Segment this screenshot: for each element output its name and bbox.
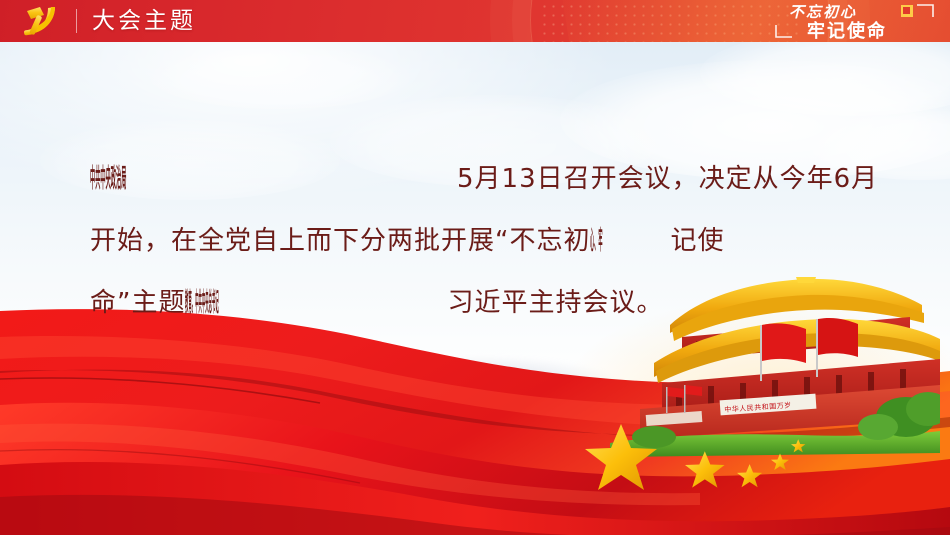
body-line-2-post: 记使	[671, 226, 725, 256]
body-line-2: 开始，在全党自上而下分两批开展“不忘初心、牢记使	[90, 210, 880, 272]
slide-body-text: 中共中央政治局5月13日召开会议，决定从今年6月 开始，在全党自上而下分两批开展…	[90, 148, 880, 334]
header-divider	[76, 9, 77, 33]
logo-line-1: 不忘初心	[789, 3, 857, 21]
body-line-2-pre: 开始，在全党自上而下分两批开展“不忘初	[90, 226, 590, 256]
body-line-3-pre: 命”主题	[90, 288, 185, 318]
star-2	[685, 451, 725, 487]
five-gold-stars	[585, 418, 905, 513]
logo-line-2: 牢记使命	[807, 20, 887, 42]
star-5	[791, 439, 805, 452]
page-title: 大会主题	[92, 5, 196, 37]
star-1	[585, 424, 657, 490]
presentation-slide: 大会主题 不忘初心 牢记使命	[0, 0, 950, 535]
cpc-hammer-sickle-icon	[14, 3, 76, 39]
body-line-2-overlap: 心、牢	[590, 210, 602, 272]
body-line-3: 命”主题教育。中共中央总书记习近平主持会议。	[90, 272, 880, 334]
body-line-3-post: 习近平主持会议。	[448, 288, 664, 318]
slide-header-bar: 大会主题 不忘初心 牢记使命	[0, 0, 950, 42]
body-line-1-overlap: 中共中央政治局	[90, 148, 126, 210]
star-4	[771, 454, 789, 471]
body-line-1: 中共中央政治局5月13日召开会议，决定从今年6月	[90, 148, 880, 210]
star-3	[737, 464, 762, 487]
body-line-3-overlap: 教育。中共中央总书记	[185, 272, 219, 334]
buwangchuxin-logo: 不忘初心 牢记使命	[767, 0, 942, 42]
body-line-1-clear: 5月13日召开会议，决定从今年6月	[457, 164, 878, 194]
